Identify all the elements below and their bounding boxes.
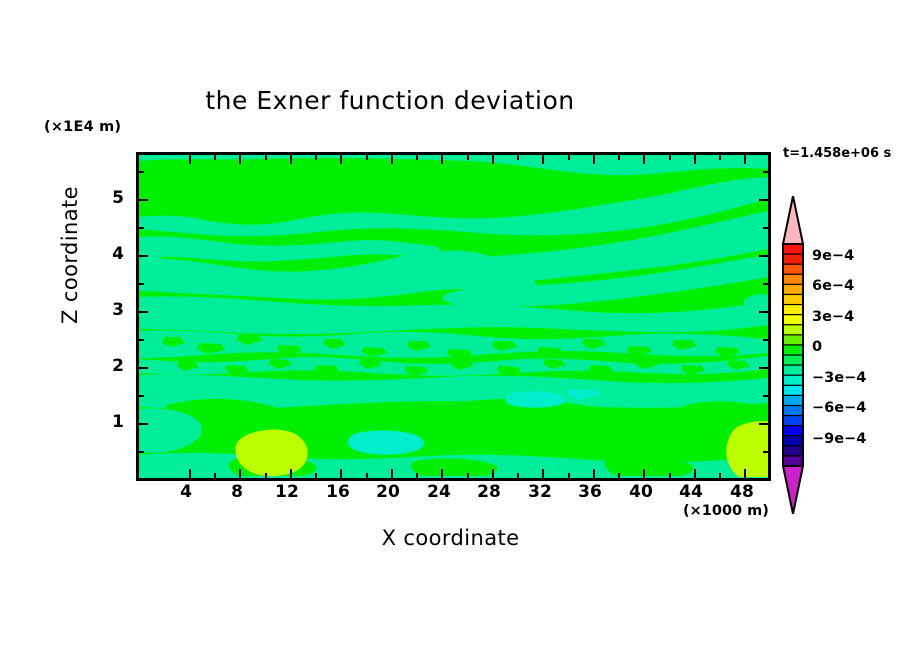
x-tick-top	[517, 155, 519, 160]
x-tick-top	[189, 155, 191, 164]
colorbar-band	[783, 395, 803, 405]
colorbar-band	[783, 446, 803, 456]
x-tick-bottom	[290, 469, 292, 478]
y-tick-left	[139, 339, 144, 341]
colorbar-tick-label: −6e−4	[812, 400, 866, 416]
y-tick-right	[763, 227, 768, 229]
y-tick-left	[139, 227, 144, 229]
x-tick-bottom	[719, 473, 721, 478]
x-tick-top	[593, 155, 595, 164]
colorbar-over-arrow	[783, 196, 803, 244]
x-tick-label: 40	[619, 482, 663, 502]
x-tick-top	[391, 155, 393, 164]
time-annotation: t=1.458e+06 s	[783, 146, 891, 161]
colorbar-band	[783, 325, 803, 335]
x-tick-top	[265, 155, 267, 160]
x-tick-bottom	[441, 469, 443, 478]
x-tick-label: 44	[669, 482, 713, 502]
colorbar-band	[783, 375, 803, 385]
y-tick-left	[139, 451, 144, 453]
x-tick-bottom	[214, 473, 216, 478]
colorbar-band	[783, 335, 803, 345]
x-tick-label: 8	[215, 482, 259, 502]
y-tick-label: 3	[96, 300, 124, 320]
x-tick-top	[416, 155, 418, 160]
colorbar-band	[783, 264, 803, 274]
y-tick-label: 4	[96, 244, 124, 264]
colorbar-under-arrow	[783, 466, 803, 514]
x-tick-bottom	[694, 469, 696, 478]
y-tick-label: 5	[96, 188, 124, 208]
x-tick-bottom	[517, 473, 519, 478]
colorbar-tick-label: 9e−4	[812, 248, 854, 264]
y-tick-right	[763, 339, 768, 341]
x-tick-top	[467, 155, 469, 160]
x-tick-bottom	[618, 473, 620, 478]
colorbar-band	[783, 385, 803, 395]
page-title: the Exner function deviation	[0, 86, 780, 115]
x-tick-bottom	[315, 473, 317, 478]
x-axis-title: X coordinate	[136, 526, 765, 550]
y-axis-unit-label: (×1E4 m)	[44, 119, 121, 135]
y-tick-left	[139, 255, 148, 257]
colorbar-tick-label: −3e−4	[812, 370, 866, 386]
colorbar-band	[783, 416, 803, 426]
colorbar-band	[783, 405, 803, 415]
y-tick-left	[139, 395, 144, 397]
x-tick-label: 20	[366, 482, 410, 502]
y-tick-right	[759, 255, 768, 257]
x-tick-label: 16	[316, 482, 360, 502]
colorbar-tick-label: 6e−4	[812, 278, 854, 294]
colorbar-band	[783, 456, 803, 466]
x-tick-bottom	[189, 469, 191, 478]
colorbar-band	[783, 345, 803, 355]
x-tick-top	[744, 155, 746, 164]
contour-plot-area	[136, 152, 771, 481]
x-tick-top	[290, 155, 292, 164]
colorbar-band	[783, 254, 803, 264]
y-axis-title: Z coordinate	[58, 155, 82, 355]
x-tick-bottom	[593, 469, 595, 478]
x-tick-bottom	[265, 473, 267, 478]
x-tick-label: 24	[417, 482, 461, 502]
x-tick-label: 36	[568, 482, 612, 502]
x-tick-bottom	[744, 469, 746, 478]
x-tick-top	[643, 155, 645, 164]
colorbar-band	[783, 365, 803, 375]
x-tick-top	[340, 155, 342, 164]
colorbar-band	[783, 274, 803, 284]
colorbar-band	[783, 284, 803, 294]
colorbar-band	[783, 244, 803, 254]
y-tick-left	[139, 171, 144, 173]
y-tick-right	[759, 199, 768, 201]
x-tick-top	[618, 155, 620, 160]
x-tick-top	[542, 155, 544, 164]
x-tick-bottom	[467, 473, 469, 478]
colorbar-band	[783, 436, 803, 446]
colorbar-tick-label: −9e−4	[812, 431, 866, 447]
y-tick-left	[139, 367, 148, 369]
y-tick-label: 2	[96, 356, 124, 376]
y-tick-label: 1	[96, 412, 124, 432]
x-tick-bottom	[542, 469, 544, 478]
colorbar-band	[783, 294, 803, 304]
y-tick-left	[139, 199, 148, 201]
y-tick-left	[139, 283, 144, 285]
contour-field	[139, 155, 768, 478]
y-tick-left	[139, 311, 148, 313]
colorbar-band	[783, 426, 803, 436]
y-tick-right	[759, 367, 768, 369]
x-tick-label: 4	[164, 482, 208, 502]
x-tick-top	[315, 155, 317, 160]
x-tick-top	[214, 155, 216, 160]
y-tick-right	[759, 423, 768, 425]
colorbar-swatches	[781, 196, 805, 514]
x-tick-bottom	[416, 473, 418, 478]
x-tick-bottom	[492, 469, 494, 478]
colorbar-band	[783, 305, 803, 315]
y-tick-right	[763, 283, 768, 285]
x-tick-top	[492, 155, 494, 164]
x-tick-top	[441, 155, 443, 164]
colorbar	[781, 196, 805, 514]
x-tick-bottom	[568, 473, 570, 478]
x-tick-label: 28	[467, 482, 511, 502]
colorbar-band	[783, 355, 803, 365]
x-tick-label: 32	[518, 482, 562, 502]
x-tick-top	[239, 155, 241, 164]
x-tick-bottom	[340, 469, 342, 478]
colorbar-band	[783, 315, 803, 325]
y-tick-right	[763, 395, 768, 397]
x-tick-top	[669, 155, 671, 160]
x-tick-bottom	[391, 469, 393, 478]
y-tick-right	[759, 311, 768, 313]
x-tick-label: 48	[720, 482, 764, 502]
x-tick-bottom	[239, 469, 241, 478]
x-tick-top	[719, 155, 721, 160]
x-tick-bottom	[366, 473, 368, 478]
y-tick-right	[763, 451, 768, 453]
x-tick-top	[366, 155, 368, 160]
figure-canvas: the Exner function deviation (×1E4 m) t=…	[0, 0, 904, 654]
y-tick-right	[763, 171, 768, 173]
x-axis-unit-label: (×1000 m)	[683, 503, 769, 519]
x-tick-label: 12	[265, 482, 309, 502]
colorbar-tick-label: 3e−4	[812, 309, 854, 325]
y-tick-left	[139, 423, 148, 425]
x-tick-bottom	[669, 473, 671, 478]
colorbar-band-group	[783, 244, 803, 466]
x-tick-top	[568, 155, 570, 160]
x-tick-top	[694, 155, 696, 164]
colorbar-tick-label: 0	[812, 339, 822, 355]
x-tick-bottom	[643, 469, 645, 478]
